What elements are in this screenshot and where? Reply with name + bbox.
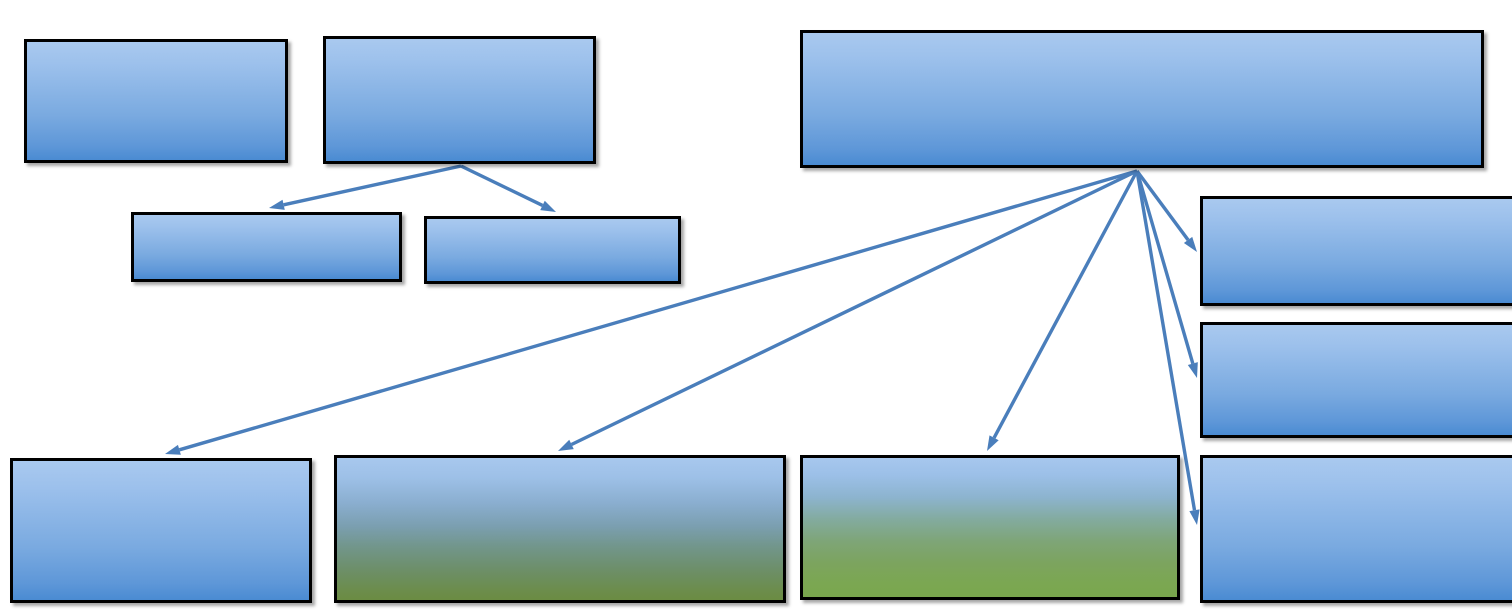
node-rosetta[interactable] xyxy=(424,216,681,284)
arrow-flexible-to-mdfit xyxy=(558,171,1137,451)
node-direx[interactable] xyxy=(1200,196,1512,306)
arrow-flexible-to-mdfit-head-icon xyxy=(558,440,574,451)
node-flexible-fitting[interactable] xyxy=(800,30,1484,168)
node-secondary-structure-fragment-fitting[interactable] xyxy=(323,36,596,164)
arrow-flexible-to-cryofit-head-icon xyxy=(987,435,999,451)
arrow-flexible-to-yupscx-shaft xyxy=(1137,171,1193,364)
arrow-flexible-to-mdfit-shaft xyxy=(572,171,1137,444)
node-pathwalker[interactable] xyxy=(131,212,402,282)
node-yup-scx[interactable] xyxy=(1200,322,1512,438)
node-nmff[interactable] xyxy=(1200,455,1512,603)
node-mdff[interactable] xyxy=(10,458,312,603)
arrow-flexible-to-cryofit xyxy=(987,171,1137,451)
node-rigid-domain-fitting[interactable] xyxy=(24,39,288,163)
node-mdfit[interactable] xyxy=(334,455,786,603)
arrow-flexible-to-direx-head-icon xyxy=(1184,237,1197,252)
arrow-flexible-to-mdff-head-icon xyxy=(165,445,181,455)
arrow-secondary-to-rosetta-shaft xyxy=(461,166,542,205)
arrow-secondary-to-rosetta-head-icon xyxy=(540,201,556,212)
node-cryofit[interactable] xyxy=(800,455,1180,600)
arrow-flexible-to-cryofit-shaft xyxy=(994,171,1137,438)
arrow-secondary-to-pathwalker-head-icon xyxy=(269,200,285,210)
arrow-secondary-to-rosetta xyxy=(461,166,556,212)
arrow-flexible-to-direx-shaft xyxy=(1137,171,1188,240)
diagram-canvas xyxy=(0,0,1512,610)
arrow-secondary-to-pathwalker xyxy=(269,166,461,210)
arrow-flexible-to-yupscx xyxy=(1137,171,1198,378)
arrow-flexible-to-direx xyxy=(1137,171,1197,252)
arrow-flexible-to-nmff-head-icon xyxy=(1189,509,1199,525)
arrow-flexible-to-yupscx-head-icon xyxy=(1188,362,1198,378)
arrow-secondary-to-pathwalker-shaft xyxy=(284,166,461,205)
